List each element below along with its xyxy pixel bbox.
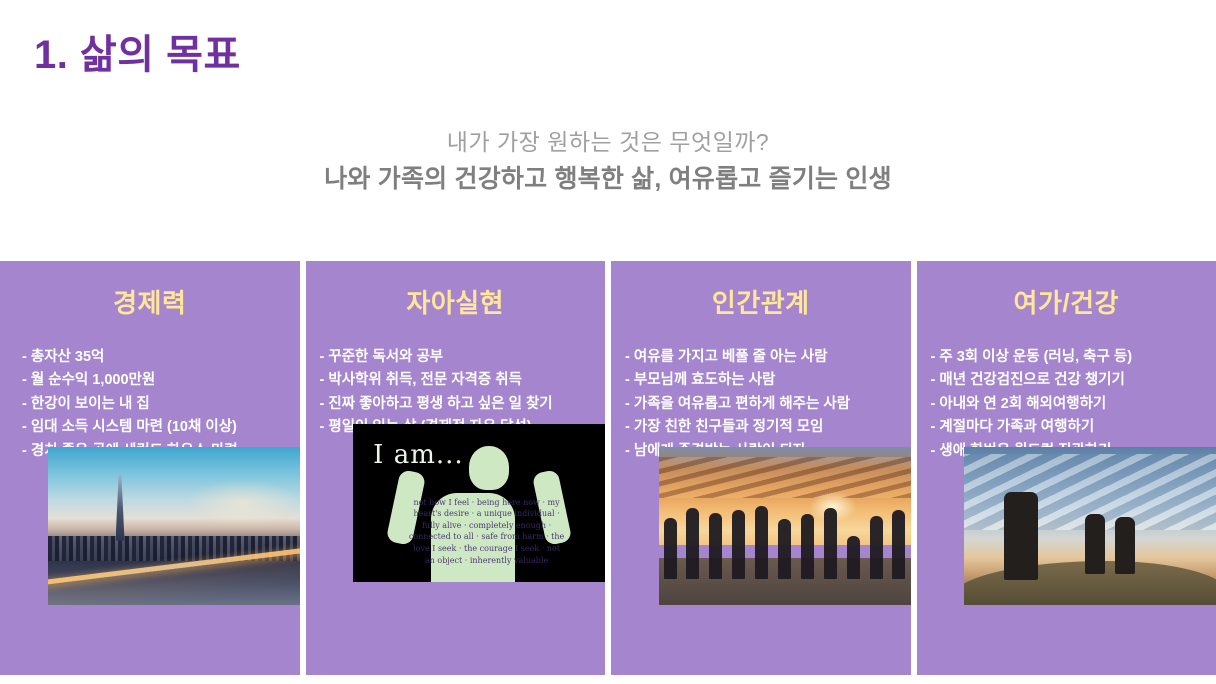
people-silhouettes: [664, 496, 906, 578]
list-item: - 여유를 가지고 베풀 줄 아는 사람: [625, 346, 901, 369]
seoul-skyline-photo: [48, 447, 300, 605]
list-item: - 매년 건강검진으로 건강 챙기기: [931, 369, 1207, 392]
card-title: 여가/건강: [1014, 283, 1119, 320]
person-silhouette: [755, 506, 768, 578]
goal-card-relationships[interactable]: 인간관계 - 여유를 가지고 베풀 줄 아는 사람 - 부모님께 효도하는 사람…: [611, 261, 911, 675]
person-silhouette: [778, 519, 791, 578]
list-item: - 꾸준한 독서와 공부: [320, 346, 596, 369]
figure-head: [469, 446, 509, 490]
list-item: - 총자산 35억: [22, 346, 290, 369]
person-silhouette: [686, 508, 699, 579]
page-title: 1. 삶의 목표: [34, 22, 241, 80]
person-silhouette: [664, 518, 677, 579]
subtitle-block: 내가 가장 원하는 것은 무엇일까? 나와 가족의 건강하고 행복한 삶, 여유…: [0, 128, 1216, 195]
list-item: - 계절마다 가족과 여행하기: [931, 416, 1207, 439]
sunset-glow: [186, 479, 299, 526]
person-silhouette: [870, 516, 883, 578]
list-item: - 한강이 보이는 내 집: [22, 393, 290, 416]
card-title: 경제력: [113, 283, 186, 320]
hiker-silhouette: [1115, 517, 1135, 574]
subtitle-question: 내가 가장 원하는 것은 무엇일까?: [0, 128, 1216, 157]
hikers-ridge-photo: [964, 447, 1216, 605]
list-item: - 가족을 여유롭고 편하게 해주는 사람: [625, 393, 901, 416]
subtitle-answer: 나와 가족의 건강하고 행복한 삶, 여유롭고 즐기는 인생: [0, 163, 1216, 196]
people-beach-sunset-photo: [659, 447, 911, 605]
list-item: - 임대 소득 시스템 마련 (10채 이상): [22, 416, 290, 439]
goal-card-self-actualization[interactable]: 자아실현 - 꾸준한 독서와 공부 - 박사학위 취득, 전문 자격증 취득 -…: [306, 261, 606, 675]
person-silhouette: [709, 513, 722, 579]
i-am-caption: I am...: [373, 440, 463, 470]
lotte-tower-shape: [116, 474, 125, 540]
card-bullet-list: - 주 3회 이상 운동 (러닝, 축구 등) - 매년 건강검진으로 건강 챙…: [917, 346, 1216, 463]
person-silhouette: [732, 510, 745, 579]
goal-card-leisure-health[interactable]: 여가/건강 - 주 3회 이상 운동 (러닝, 축구 등) - 매년 건강검진으…: [917, 261, 1216, 675]
list-item: - 부모님께 효도하는 사람: [625, 369, 901, 392]
list-item: - 주 3회 이상 운동 (러닝, 축구 등): [931, 346, 1207, 369]
i-am-wordcloud-photo: I am... not how I feel · being here now …: [353, 424, 605, 582]
list-item: - 진짜 좋아하고 평생 하고 싶은 일 찾기: [320, 393, 596, 416]
person-silhouette: [892, 510, 905, 579]
list-item: - 아내와 연 2회 해외여행하기: [931, 393, 1207, 416]
card-bullet-list: - 여유를 가지고 베풀 줄 아는 사람 - 부모님께 효도하는 사람 - 가족…: [611, 346, 911, 463]
card-title: 인간관계: [712, 283, 810, 320]
list-item: - 박사학위 취득, 전문 자격증 취득: [320, 369, 596, 392]
hiker-silhouette: [1085, 514, 1105, 574]
card-bullet-list: - 총자산 35억 - 월 순수익 1,000만원 - 한강이 보이는 내 집 …: [0, 346, 300, 463]
list-item: - 월 순수익 1,000만원: [22, 369, 290, 392]
wordcloud-words: not how I feel · being here now · my hea…: [408, 497, 564, 567]
list-item: - 가장 친한 친구들과 정기적 모임: [625, 416, 901, 439]
card-title: 자아실현: [406, 283, 504, 320]
goal-card-economy[interactable]: 경제력 - 총자산 35억 - 월 순수익 1,000만원 - 한강이 보이는 …: [0, 261, 300, 675]
person-silhouette: [801, 514, 814, 578]
goal-card-band: 경제력 - 총자산 35억 - 월 순수익 1,000만원 - 한강이 보이는 …: [0, 261, 1216, 675]
cloud-streaks: [659, 457, 911, 498]
hiker-silhouette: [1004, 492, 1038, 580]
person-silhouette: [847, 536, 860, 579]
person-silhouette: [824, 508, 837, 579]
